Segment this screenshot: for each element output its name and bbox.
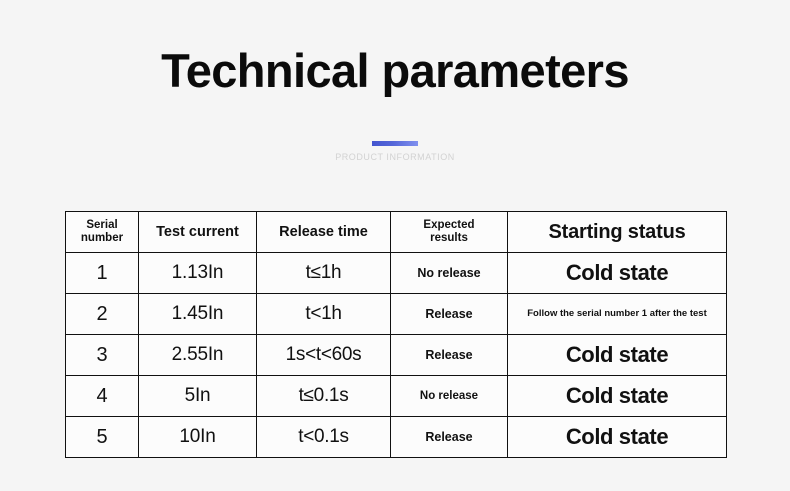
page-subtitle: PRODUCT INFORMATION <box>0 152 790 162</box>
technical-parameters-table: Serial number Test current Release time … <box>65 211 727 458</box>
cell-serial-2: 2 <box>66 294 139 335</box>
table-row: 2 1.45In t<1h Release Follow the serial … <box>66 294 727 335</box>
cell-starting-status-2: Follow the serial number 1 after the tes… <box>508 294 727 335</box>
cell-release-time-2: t<1h <box>257 294 391 335</box>
cell-release-time-5: t<0.1s <box>257 417 391 458</box>
cell-serial-3: 3 <box>66 335 139 376</box>
cell-test-current-2: 1.45In <box>139 294 257 335</box>
cell-starting-status-3: Cold state <box>508 335 727 376</box>
cell-release-time-4: t≤0.1s <box>257 376 391 417</box>
cell-serial-5: 5 <box>66 417 139 458</box>
cell-test-current-5: 10In <box>139 417 257 458</box>
cell-starting-status-5: Cold state <box>508 417 727 458</box>
cell-test-current-1: 1.13In <box>139 253 257 294</box>
cell-expected-results-3: Release <box>391 335 508 376</box>
table-row: 1 1.13In t≤1h No release Cold state <box>66 253 727 294</box>
expected-header-line1: Expected <box>423 219 474 231</box>
cell-test-current-4: 5In <box>139 376 257 417</box>
page-title: Technical parameters <box>0 46 790 95</box>
expected-header-line2: results <box>430 232 468 244</box>
cell-expected-results-1: No release <box>391 253 508 294</box>
serial-header-line2: number <box>81 232 123 244</box>
serial-header-line1: Serial <box>86 219 117 231</box>
cell-release-time-3: 1s<t<60s <box>257 335 391 376</box>
column-header-release-time: Release time <box>257 212 391 253</box>
cell-starting-status-1: Cold state <box>508 253 727 294</box>
cell-serial-1: 1 <box>66 253 139 294</box>
column-header-serial-number: Serial number <box>66 212 139 253</box>
cell-test-current-3: 2.55In <box>139 335 257 376</box>
column-header-starting-status: Starting status <box>508 212 727 253</box>
table-row: 3 2.55In 1s<t<60s Release Cold state <box>66 335 727 376</box>
table-row: 5 10In t<0.1s Release Cold state <box>66 417 727 458</box>
table-row: 4 5In t≤0.1s No release Cold state <box>66 376 727 417</box>
cell-starting-status-4: Cold state <box>508 376 727 417</box>
accent-divider-bar <box>372 141 418 146</box>
table-header-row: Serial number Test current Release time … <box>66 212 727 253</box>
column-header-expected-results: Expected results <box>391 212 508 253</box>
cell-expected-results-5: Release <box>391 417 508 458</box>
cell-expected-results-2: Release <box>391 294 508 335</box>
cell-serial-4: 4 <box>66 376 139 417</box>
column-header-test-current: Test current <box>139 212 257 253</box>
cell-expected-results-4: No release <box>391 376 508 417</box>
cell-release-time-1: t≤1h <box>257 253 391 294</box>
